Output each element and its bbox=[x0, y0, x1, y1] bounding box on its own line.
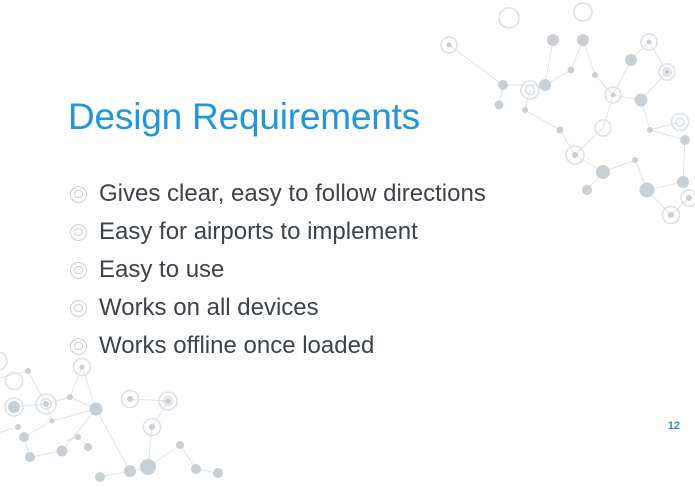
double-circle-icon bbox=[70, 300, 87, 317]
design-requirements-list: Gives clear, easy to follow directions E… bbox=[70, 175, 486, 365]
list-item-label: Gives clear, easy to follow directions bbox=[99, 182, 486, 206]
double-circle-icon bbox=[70, 262, 87, 279]
presentation-slide: Design Requirements Gives clear, easy to… bbox=[0, 0, 695, 494]
list-item: Easy to use bbox=[70, 251, 486, 289]
list-item-label: Easy to use bbox=[99, 258, 224, 282]
double-circle-icon bbox=[70, 338, 87, 355]
page-title: Design Requirements bbox=[68, 96, 420, 138]
double-circle-icon bbox=[70, 186, 87, 203]
network-graphic-bottom-left bbox=[0, 349, 270, 494]
list-item-label: Easy for airports to implement bbox=[99, 220, 418, 244]
list-item: Easy for airports to implement bbox=[70, 213, 486, 251]
list-item: Works offline once loaded bbox=[70, 327, 486, 365]
double-circle-icon bbox=[70, 224, 87, 241]
list-item: Works on all devices bbox=[70, 289, 486, 327]
list-item-label: Works offline once loaded bbox=[99, 334, 374, 358]
list-item-label: Works on all devices bbox=[99, 296, 319, 320]
list-item: Gives clear, easy to follow directions bbox=[70, 175, 486, 213]
page-number: 12 bbox=[668, 420, 680, 432]
